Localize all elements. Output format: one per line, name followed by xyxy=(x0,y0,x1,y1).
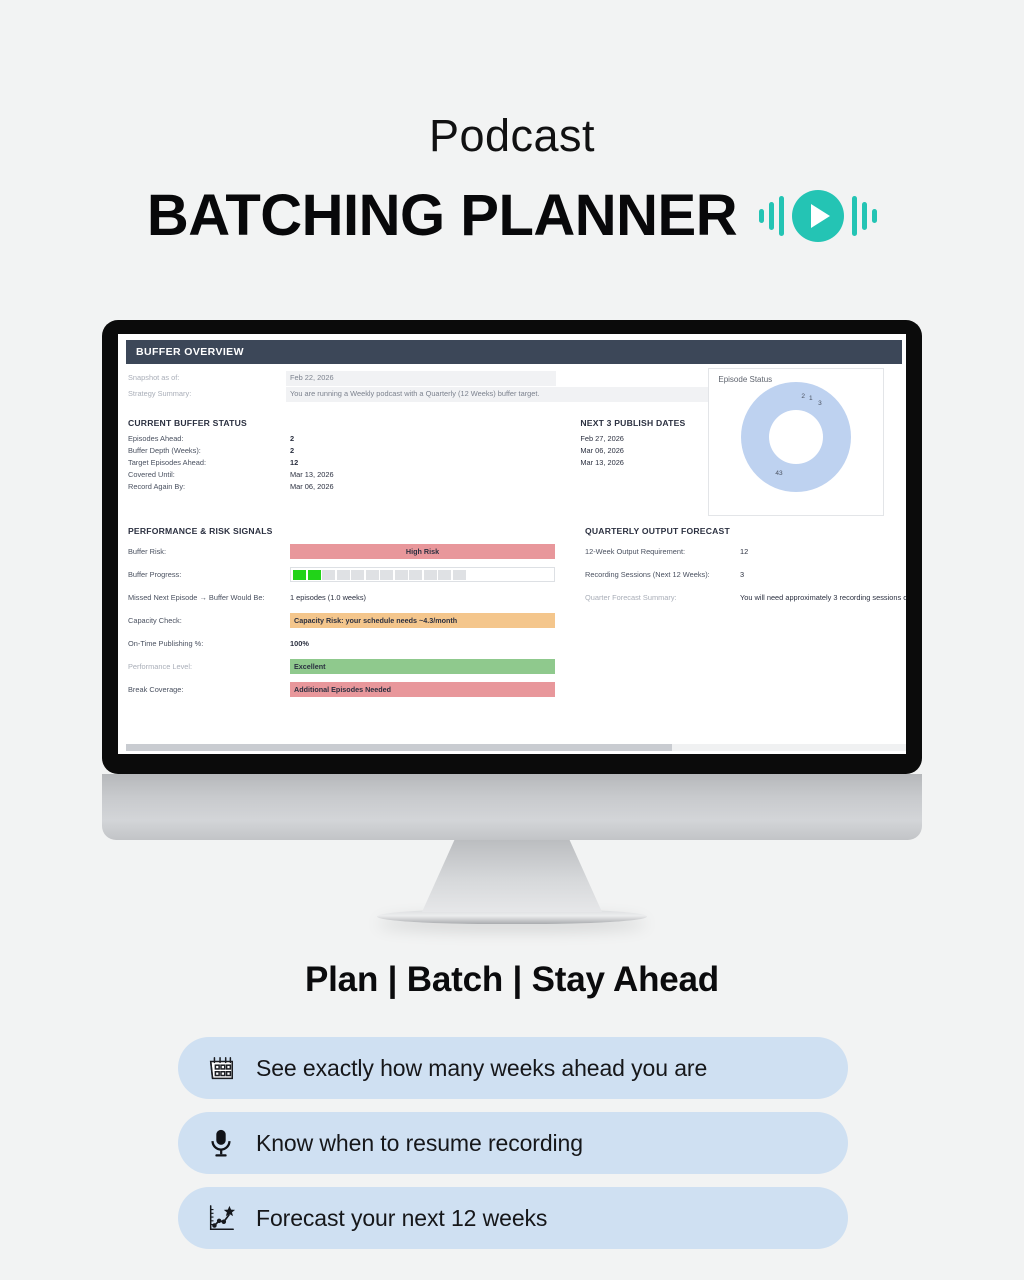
status-badge: Capacity Risk: your schedule needs ~4.3/… xyxy=(290,613,555,628)
table-row: Performance Level: Excellent xyxy=(128,655,555,678)
progress-block xyxy=(453,570,466,580)
quarterly-forecast-block: QUARTERLY OUTPUT FORECAST 12-Week Output… xyxy=(555,526,906,701)
progress-block xyxy=(409,570,422,580)
table-row: Recording Sessions (Next 12 Weeks): 3 xyxy=(585,563,906,586)
table-row: Record Again By: Mar 06, 2026 xyxy=(128,480,550,492)
meta-value: Feb 22, 2026 xyxy=(286,371,556,386)
monitor-screen: BUFFER OVERVIEW Snapshot as of: Feb 22, … xyxy=(118,334,906,754)
row-label: Record Again By: xyxy=(128,482,290,491)
table-row: Missed Next Episode → Buffer Would Be: 1… xyxy=(128,586,555,609)
buffer-progress-bar xyxy=(290,567,555,582)
row-label: Buffer Risk: xyxy=(128,547,290,556)
row-label: Missed Next Episode → Buffer Would Be: xyxy=(128,593,290,602)
row-value: 100% xyxy=(290,639,309,648)
section-title: PERFORMANCE & RISK SIGNALS xyxy=(128,526,555,536)
table-row: Buffer Depth (Weeks): 2 xyxy=(128,444,550,456)
row-label: Covered Until: xyxy=(128,470,290,479)
row-value: 1 episodes (1.0 weeks) xyxy=(290,593,366,602)
table-row: On-Time Publishing %: 100% xyxy=(128,632,555,655)
page-header: Podcast BATCHING PLANNER xyxy=(0,0,1024,245)
status-badge: Excellent xyxy=(290,659,555,674)
row-value: 2 xyxy=(290,446,294,455)
feature-pill-weeks-ahead[interactable]: See exactly how many weeks ahead you are xyxy=(178,1037,848,1099)
monitor-bezel: BUFFER OVERVIEW Snapshot as of: Feb 22, … xyxy=(102,320,922,774)
spreadsheet-app: BUFFER OVERVIEW Snapshot as of: Feb 22, … xyxy=(118,334,906,754)
row-value: Mar 13, 2026 xyxy=(290,470,334,479)
microphone-icon xyxy=(204,1126,238,1160)
status-badge: High Risk xyxy=(290,544,555,559)
donut-label: 3 xyxy=(818,400,822,407)
row-label: Break Coverage: xyxy=(128,685,290,694)
progress-block xyxy=(438,570,451,580)
episode-status-chart-card: Episode Status 2 1 3 43 xyxy=(708,368,884,516)
row-label: Buffer Progress: xyxy=(128,570,290,579)
table-row: Buffer Risk: High Risk xyxy=(128,540,555,563)
header-kicker: Podcast xyxy=(0,112,1024,159)
row-value: 12 xyxy=(740,547,748,556)
row-label: Episodes Ahead: xyxy=(128,434,290,443)
status-badge: Additional Episodes Needed xyxy=(290,682,555,697)
waveform-bar xyxy=(852,196,857,236)
table-row: Break Coverage: Additional Episodes Need… xyxy=(128,678,555,701)
section-title: CURRENT BUFFER STATUS xyxy=(128,418,550,428)
page-title: BATCHING PLANNER xyxy=(147,187,737,245)
progress-block xyxy=(351,570,364,580)
current-buffer-status-block: CURRENT BUFFER STATUS Episodes Ahead: 2 … xyxy=(126,418,550,492)
progress-block xyxy=(380,570,393,580)
progress-block xyxy=(337,570,350,580)
progress-block xyxy=(322,570,335,580)
table-row: 12-Week Output Requirement: 12 xyxy=(585,540,906,563)
scrollbar-thumb[interactable] xyxy=(126,744,672,751)
row-label: Quarter Forecast Summary: xyxy=(585,593,740,602)
desktop-monitor-mockup: BUFFER OVERVIEW Snapshot as of: Feb 22, … xyxy=(102,320,922,924)
row-label: 12-Week Output Requirement: xyxy=(585,547,740,556)
feature-pill-resume-recording[interactable]: Know when to resume recording xyxy=(178,1112,848,1174)
waveform-bar xyxy=(759,209,764,223)
donut-label: 43 xyxy=(775,470,782,477)
waveform-bar xyxy=(862,202,867,230)
feature-list: See exactly how many weeks ahead you are… xyxy=(178,1037,848,1262)
donut-hole xyxy=(769,410,823,464)
sheet-banner: BUFFER OVERVIEW xyxy=(126,340,902,364)
section-title: QUARTERLY OUTPUT FORECAST xyxy=(585,526,906,536)
row-label: Buffer Depth (Weeks): xyxy=(128,446,290,455)
header-title-row: BATCHING PLANNER xyxy=(0,187,1024,245)
play-triangle xyxy=(811,204,830,228)
row-label: Performance Level: xyxy=(128,662,290,671)
episode-status-donut: 2 1 3 43 xyxy=(741,382,851,492)
performance-risk-block: PERFORMANCE & RISK SIGNALS Buffer Risk: … xyxy=(126,526,555,701)
progress-block xyxy=(308,570,321,580)
progress-block xyxy=(293,570,306,580)
feature-label: Forecast your next 12 weeks xyxy=(256,1205,547,1232)
sheet-lower-columns: PERFORMANCE & RISK SIGNALS Buffer Risk: … xyxy=(126,506,906,701)
tagline: Plan | Batch | Stay Ahead xyxy=(0,960,1024,1000)
table-row: Capacity Check: Capacity Risk: your sche… xyxy=(128,609,555,632)
publish-date: Mar 13, 2026 xyxy=(580,458,624,467)
row-value: Mar 06, 2026 xyxy=(290,482,334,491)
next-publish-dates-block: NEXT 3 PUBLISH DATES Feb 27, 2026 Mar 06… xyxy=(550,418,906,492)
table-row: Quarter Forecast Summary: You will need … xyxy=(585,586,906,609)
waveform-bar xyxy=(779,196,784,236)
waveform-bar xyxy=(769,202,774,230)
horizontal-scrollbar[interactable] xyxy=(126,744,906,751)
row-value: You will need approximately 3 recording … xyxy=(740,593,906,602)
row-value: 12 xyxy=(290,458,298,467)
meta-value: You are running a Weekly podcast with a … xyxy=(286,387,731,402)
play-icon xyxy=(792,190,844,242)
publish-date: Feb 27, 2026 xyxy=(580,434,624,443)
table-row: Buffer Progress: xyxy=(128,563,555,586)
publish-date: Mar 06, 2026 xyxy=(580,446,624,455)
row-label: Recording Sessions (Next 12 Weeks): xyxy=(585,570,740,579)
monitor-stand-neck xyxy=(422,840,602,912)
progress-block xyxy=(395,570,408,580)
table-row: Covered Until: Mar 13, 2026 xyxy=(128,468,550,480)
row-label: Target Episodes Ahead: xyxy=(128,458,290,467)
meta-label: Strategy Summary: xyxy=(126,389,286,399)
meta-label: Snapshot as of: xyxy=(126,373,286,383)
table-row: Target Episodes Ahead: 12 xyxy=(128,456,550,468)
row-label: Capacity Check: xyxy=(128,616,290,625)
calendar-icon xyxy=(204,1051,238,1085)
feature-label: Know when to resume recording xyxy=(256,1130,583,1157)
row-value: 3 xyxy=(740,570,744,579)
feature-pill-forecast[interactable]: Forecast your next 12 weeks xyxy=(178,1187,848,1249)
row-label: On-Time Publishing %: xyxy=(128,639,290,648)
waveform-bar xyxy=(872,209,877,223)
forecast-chart-star-icon xyxy=(204,1201,238,1235)
donut-label: 2 xyxy=(801,393,805,400)
donut-label: 1 xyxy=(809,395,813,402)
sheet-upper-columns: CURRENT BUFFER STATUS Episodes Ahead: 2 … xyxy=(126,418,906,492)
monitor-chin xyxy=(102,774,922,840)
feature-label: See exactly how many weeks ahead you are xyxy=(256,1055,707,1082)
progress-block xyxy=(424,570,437,580)
progress-block xyxy=(366,570,379,580)
audio-waveform-play-icon xyxy=(759,189,877,243)
poster-page: Podcast BATCHING PLANNER BUFFER xyxy=(0,0,1024,1280)
table-row: Episodes Ahead: 2 xyxy=(128,432,550,444)
row-value: 2 xyxy=(290,434,294,443)
